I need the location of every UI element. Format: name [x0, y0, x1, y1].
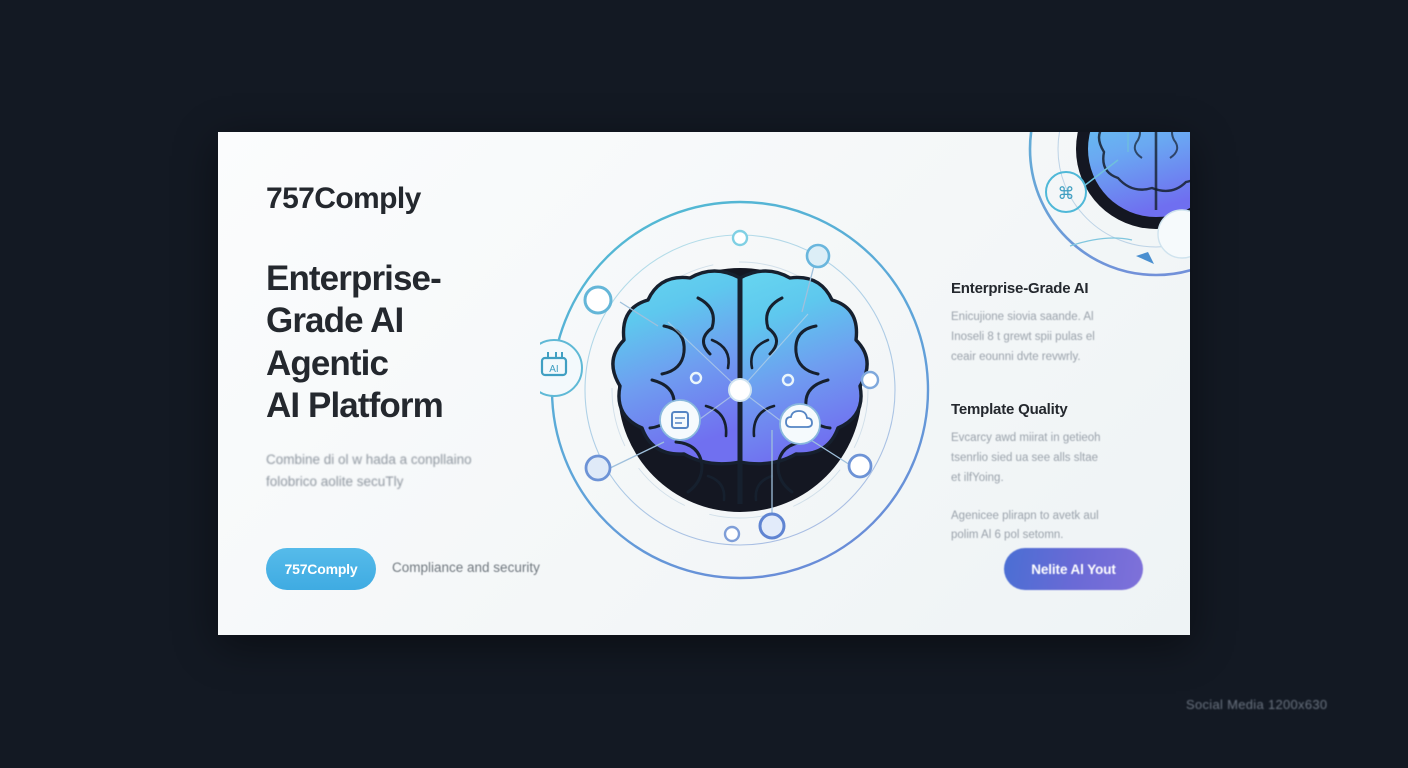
hero-subtext: Combine di ol w hada a conpllaino folobr… [266, 449, 566, 493]
ai-brain-network-illustration: AI [540, 190, 940, 590]
node-dot [807, 245, 829, 267]
node-dot [585, 287, 611, 313]
feature-body-3: Agenicee plirapn to avetk aul polim Al 6… [951, 507, 1151, 547]
node-dot [586, 456, 610, 480]
svg-text:AI: AI [549, 364, 558, 375]
chip-badge-icon: AI [540, 340, 582, 396]
secondary-cta-button[interactable]: Nelite Al Yout [1004, 548, 1143, 590]
node-dot [862, 372, 878, 388]
left-content-column: 757Comply Enterprise- Grade AI Agentic A… [266, 184, 566, 507]
node-dot [849, 455, 871, 477]
feature-body-2: Evcarcy awd miirat in getieoh tsenrlio s… [951, 429, 1151, 488]
feature-title-1: Enterprise-Grade AI [951, 280, 1151, 297]
svg-text:⌘: ⌘ [1058, 184, 1075, 203]
ai-brain-network-illustration-cropped: ⌘ [1006, 132, 1190, 304]
social-media-card: ⌘ 757Comply Enterprise- Grade AI Agentic… [218, 132, 1190, 635]
page-title: Enterprise- Grade AI Agentic AI Platform [266, 258, 566, 427]
primary-cta-caption: Compliance and security [392, 560, 540, 575]
footer-caption: Social Media 1200x630 [1186, 697, 1327, 712]
node-dot [760, 514, 784, 538]
node-dot [733, 231, 747, 245]
page-background: ⌘ 757Comply Enterprise- Grade AI Agentic… [0, 0, 1408, 768]
node-dot [725, 527, 739, 541]
cloud-badge-icon [780, 404, 820, 444]
document-badge-icon [660, 400, 700, 440]
feature-body-1: Enicujione siovia saande. Al Inoseli 8 t… [951, 308, 1151, 367]
primary-cta-button[interactable]: 757Comply [266, 548, 376, 590]
right-content-column: Enterprise-Grade AI Enicujione siovia sa… [951, 280, 1151, 546]
feature-title-2: Template Quality [951, 401, 1151, 418]
brand-title: 757Comply [266, 184, 566, 214]
